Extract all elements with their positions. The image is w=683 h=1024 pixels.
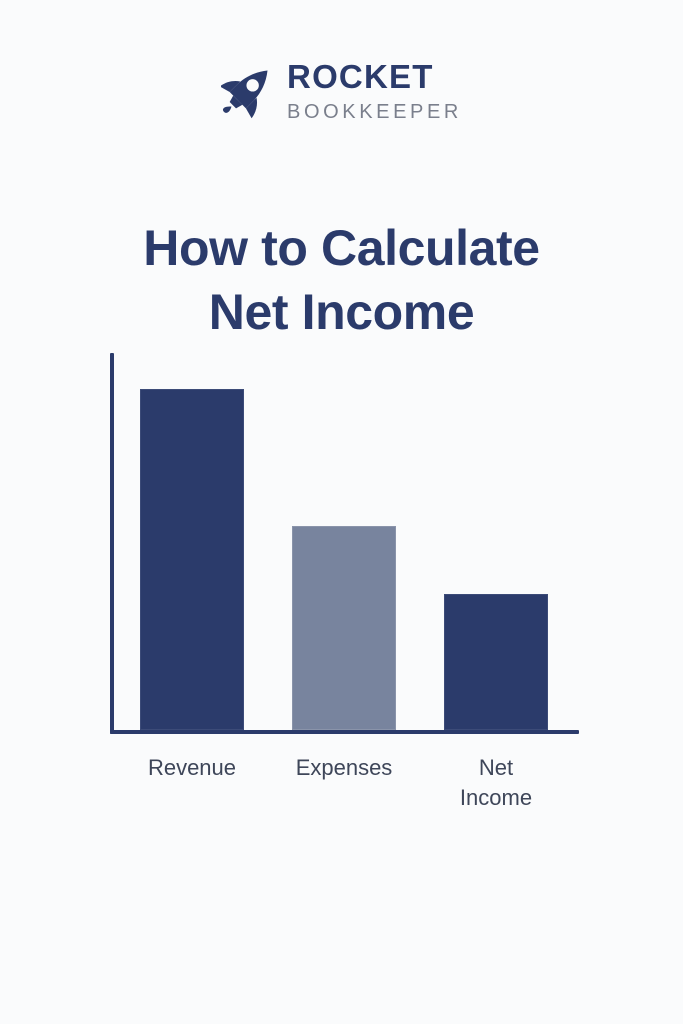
brand-logo: ROCKET BOOKKEEPER — [0, 60, 683, 122]
tick-label-revenue: Revenue — [137, 753, 247, 783]
chart-bars — [110, 345, 579, 730]
x-axis-tick-labels: Revenue Expenses Net Income — [110, 745, 579, 835]
bar-revenue — [140, 389, 244, 730]
bar-chart: Revenue Expenses Net Income — [0, 345, 683, 845]
page-title-line-2: Net Income — [0, 280, 683, 344]
brand-wordmark: ROCKET BOOKKEEPER — [287, 60, 462, 122]
bar-net-income — [444, 594, 548, 730]
tick-label-net-income: Net Income — [441, 753, 551, 812]
chart-plot-area — [105, 345, 580, 740]
tick-label-expenses: Expenses — [289, 753, 399, 783]
bar-expenses — [292, 526, 396, 730]
x-axis-line — [110, 730, 579, 734]
page-title: How to Calculate Net Income — [0, 216, 683, 344]
page-title-line-1: How to Calculate — [0, 216, 683, 280]
brand-secondary-text: BOOKKEEPER — [287, 102, 462, 122]
brand-primary-text: ROCKET — [287, 60, 434, 93]
rocket-icon — [221, 60, 273, 122]
